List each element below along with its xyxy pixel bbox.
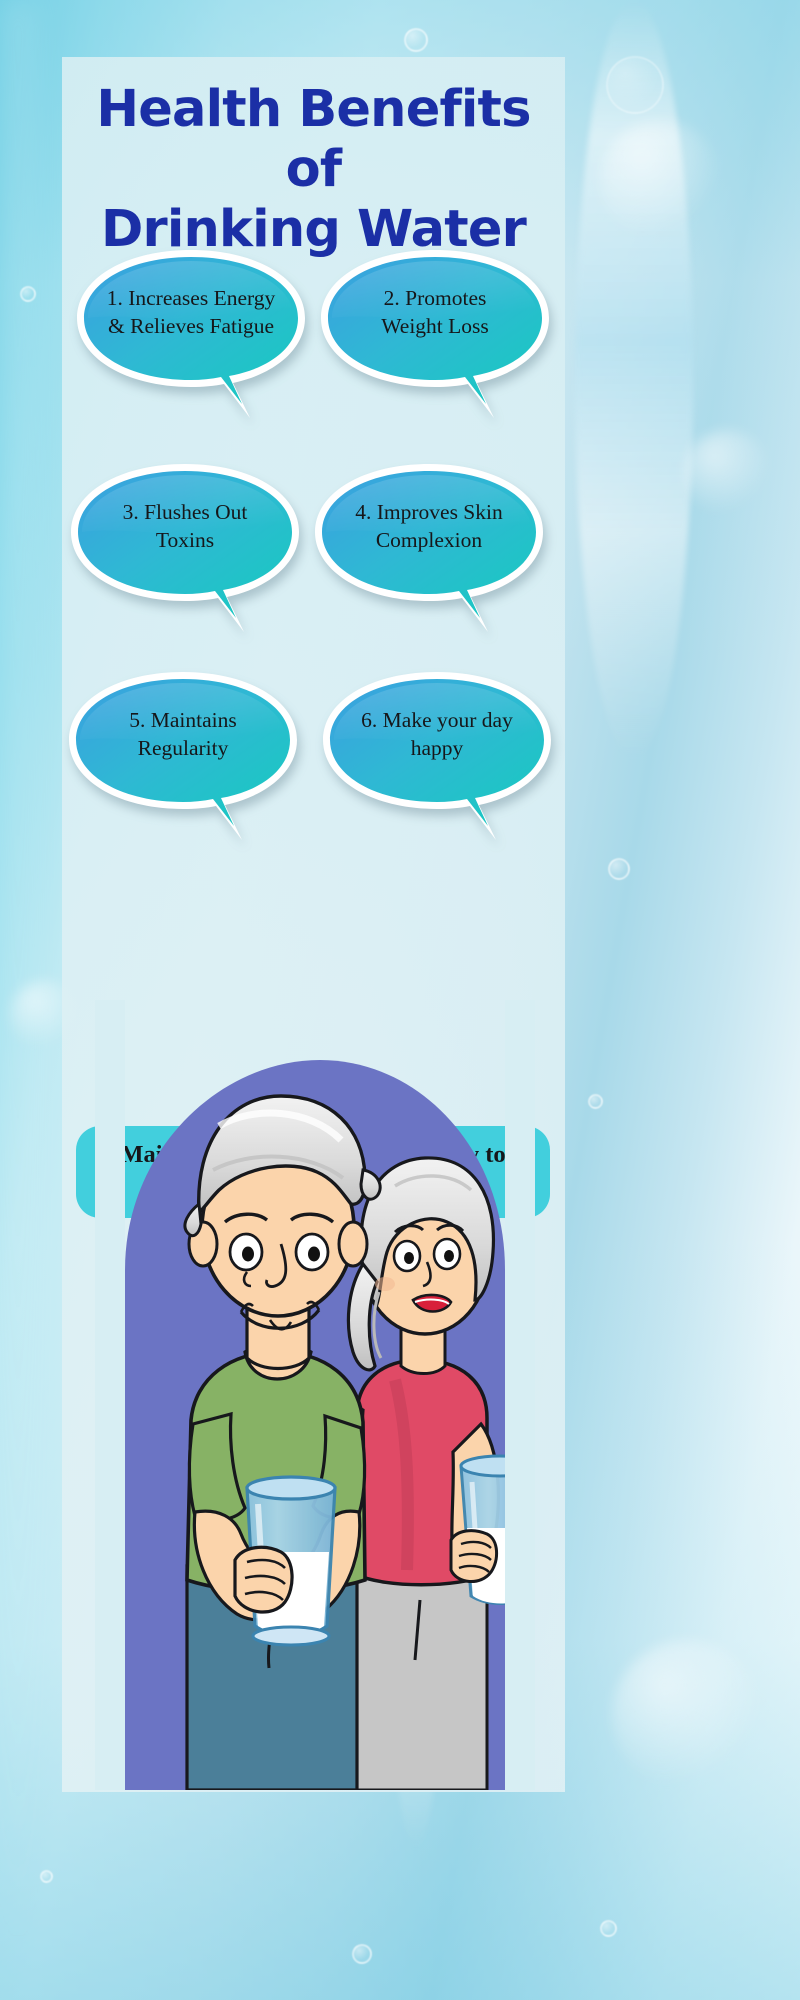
water-bubble-3 [608,858,630,880]
benefit-bubble-3[interactable]: 3. Flushes Out Toxins [68,462,302,614]
bubble-label-2: 2. Promotes Weight Loss [334,284,536,341]
bubble-label-5: 5. Maintains Regularity [82,706,284,763]
water-bubble-4 [588,1094,603,1109]
bokeh-1 [600,120,720,240]
bubble-1-line-2: & Relieves Fatigue [108,314,274,338]
bubble-6-line-1: 6. Make your day [361,708,513,732]
page-title: Health Benefits of Drinking Water [62,80,565,261]
bubble-3-line-1: 3. Flushes Out [123,500,248,524]
bubble-label-4: 4. Improves Skin Complexion [328,498,530,555]
bubble-2-line-1: 2. Promotes [384,286,487,310]
bubble-6-line-2: happy [411,736,464,760]
bokeh-4 [612,1640,762,1790]
couple-illustration [95,1000,535,1790]
water-splash-right [575,0,693,760]
bubble-4-line-1: 4. Improves Skin [355,500,503,524]
bokeh-2 [684,430,770,516]
bubble-3-line-2: Toxins [156,528,214,552]
benefit-bubble-4[interactable]: 4. Improves Skin Complexion [312,462,546,614]
benefit-bubble-1[interactable]: 1. Increases Energy & Relieves Fatigue [74,248,308,400]
bubble-label-1: 1. Increases Energy & Relieves Fatigue [90,284,292,341]
benefit-bubble-6[interactable]: 6. Make your day happy [320,670,554,822]
bubble-5-line-1: 5. Maintains [129,708,237,732]
bubble-1-line-1: 1. Increases Energy [107,286,276,310]
water-bubble-2 [20,286,36,302]
water-bubble-1 [404,28,428,52]
benefit-bubble-5[interactable]: 5. Maintains Regularity [66,670,300,822]
benefit-bubble-2[interactable]: 2. Promotes Weight Loss [318,248,552,400]
bubble-label-3: 3. Flushes Out Toxins [84,498,286,555]
water-bubble-5 [600,1920,617,1937]
water-bubble-8 [606,56,664,114]
bubble-4-line-2: Complexion [376,528,482,552]
bubble-2-line-2: Weight Loss [381,314,489,338]
water-bubble-7 [40,1870,53,1883]
bubble-5-line-2: Regularity [138,736,229,760]
title-line-1: Health Benefits of [96,80,530,199]
water-bubble-6 [352,1944,372,1964]
bubble-label-6: 6. Make your day happy [336,706,538,763]
